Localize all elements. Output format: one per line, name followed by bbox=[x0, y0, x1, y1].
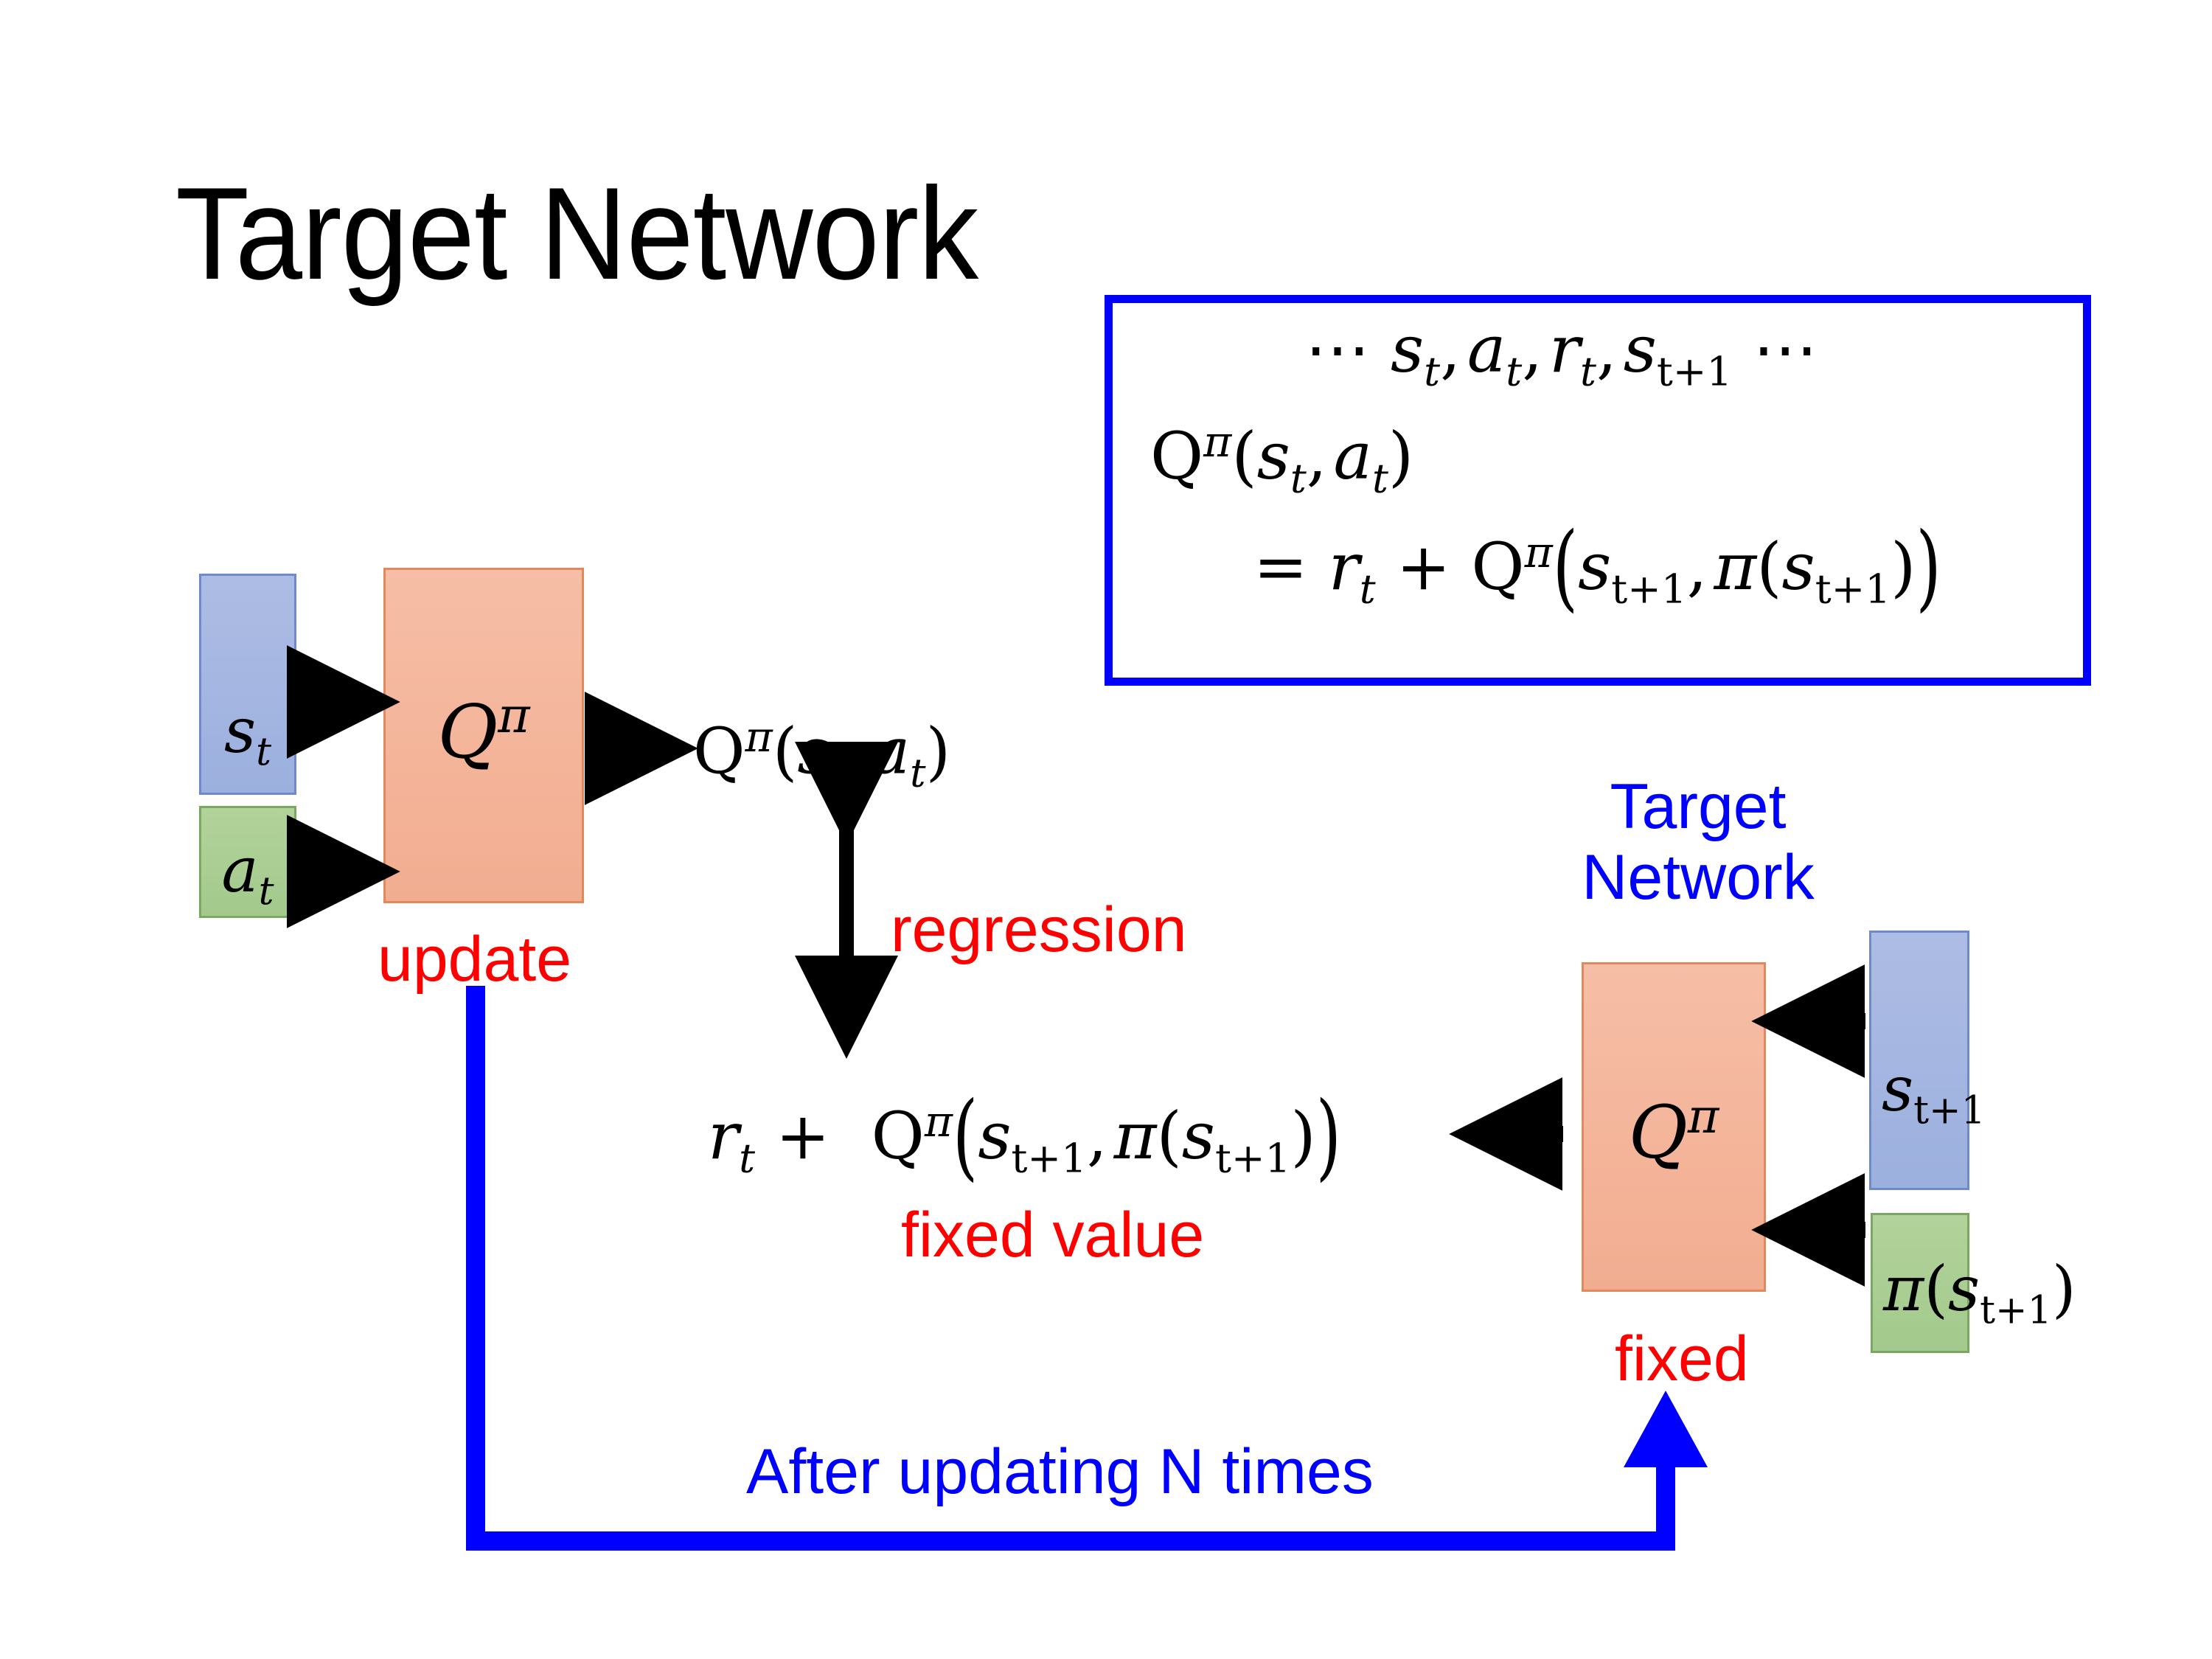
target-network-title-line1: Target bbox=[1580, 771, 1816, 842]
target-network-title-line2: Network bbox=[1580, 842, 1816, 913]
slide-canvas: Target Network ⋯ st, at, rt, st+1 ⋯ Qπ(s… bbox=[0, 0, 2212, 1659]
q-network-label-right: Qπ bbox=[1584, 1093, 1764, 1169]
q-network-box-right: Qπ bbox=[1582, 962, 1766, 1292]
equation-line-trajectory: ⋯ st, at, rt, st+1 ⋯ bbox=[1305, 317, 1818, 392]
q-network-box-left: Qπ bbox=[383, 568, 584, 903]
next-state-input-box: st+1 bbox=[1869, 931, 1969, 1190]
target-network-title: Target Network bbox=[1580, 771, 1816, 914]
action-input-label-left: at bbox=[201, 839, 294, 911]
policy-action-input-box: π(st+1) bbox=[1871, 1213, 1969, 1353]
feedback-loop-arrowhead bbox=[1624, 1391, 1708, 1467]
update-caption: update bbox=[378, 928, 571, 991]
next-state-input-label: st+1 bbox=[1882, 1058, 1986, 1130]
policy-action-input-label: π(st+1) bbox=[1883, 1258, 2076, 1330]
action-input-box-left: at bbox=[199, 806, 296, 918]
equation-line-bellman: = rt + Qπ(st+1, π(st+1)) bbox=[1253, 531, 1941, 609]
feedback-loop-label: After updating N times bbox=[746, 1436, 1374, 1507]
regression-caption: regression bbox=[891, 898, 1187, 961]
fixed-value-caption: fixed value bbox=[901, 1203, 1204, 1267]
state-input-box-left: st bbox=[199, 574, 296, 795]
target-value-expression: rt + Qπ(st+1, π(st+1)) bbox=[708, 1100, 1341, 1178]
page-title: Target Network bbox=[175, 168, 978, 299]
equation-line-qvalue: Qπ(st, at) bbox=[1150, 420, 1413, 498]
q-network-label-left: Qπ bbox=[386, 692, 582, 769]
state-input-label-left: st bbox=[201, 700, 294, 772]
fixed-caption: fixed bbox=[1615, 1327, 1749, 1391]
q-output-expression: Qπ(st, at) bbox=[693, 717, 950, 793]
